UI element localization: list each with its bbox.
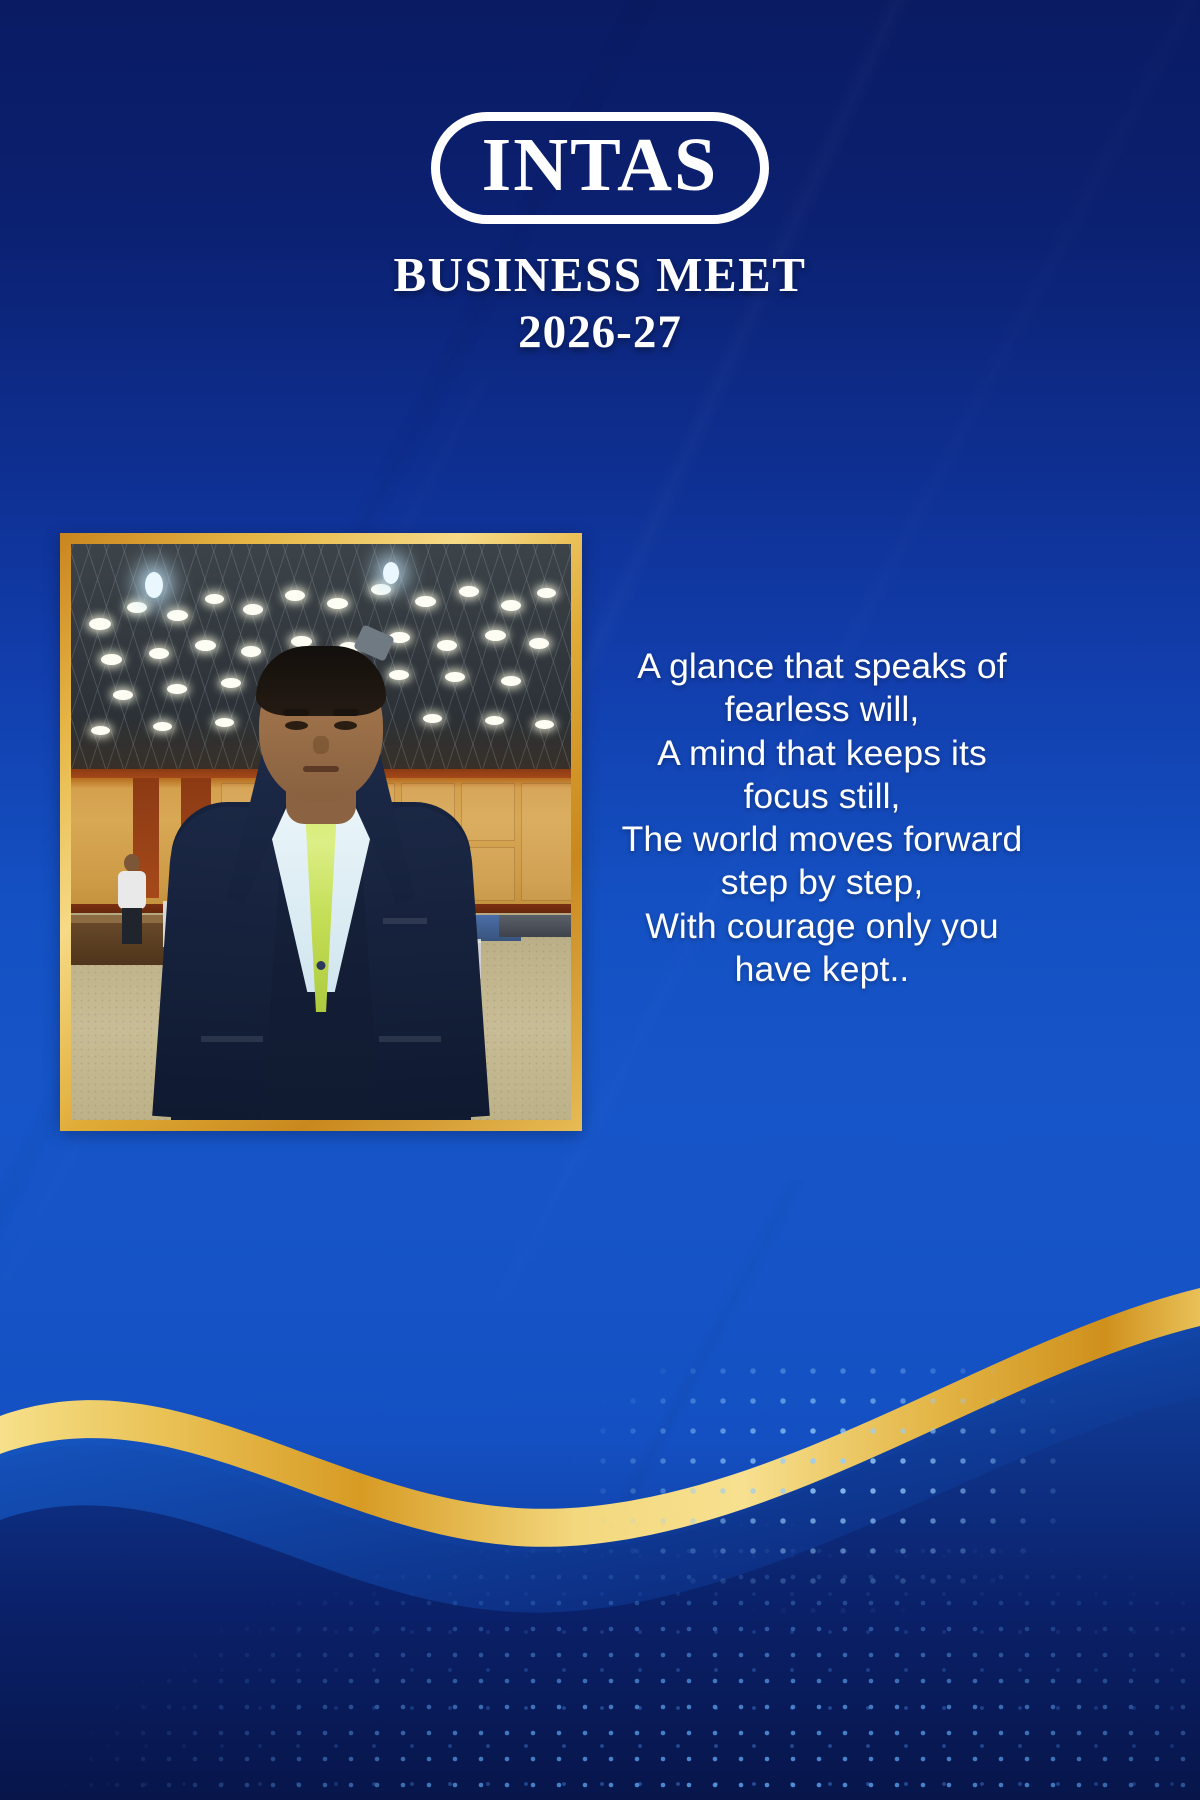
- ceiling-lamp: [127, 602, 147, 613]
- brand-name: INTAS: [482, 127, 719, 203]
- ceiling-lamp: [537, 588, 556, 598]
- mouth: [303, 766, 339, 772]
- attendee-portrait: [71, 544, 571, 1120]
- poem-line: A glance that speaks of: [592, 645, 1052, 688]
- intas-pill-logo-icon: INTAS: [431, 112, 770, 224]
- jacket-chest-pocket: [383, 918, 427, 924]
- attendee-photo-frame: [60, 533, 582, 1131]
- bottom-wave-decoration: [0, 1160, 1200, 1800]
- ceiling-lamp: [167, 610, 188, 621]
- brand-logo: INTAS: [0, 112, 1200, 224]
- wall-panel: [521, 783, 571, 901]
- nose: [313, 736, 329, 754]
- ceiling-lamp: [113, 690, 133, 700]
- jacket-pocket-right: [379, 1036, 441, 1042]
- eye-left: [285, 721, 308, 730]
- ceiling-lamp: [529, 638, 549, 649]
- ceiling-lamp: [89, 618, 111, 630]
- ceiling-lamp: [485, 716, 504, 725]
- event-year: 2026-27: [0, 305, 1200, 359]
- poster-header: INTAS BUSINESS MEET 2026-27: [0, 0, 1200, 359]
- ceiling-lamp-bright: [145, 572, 163, 598]
- poem-line: fearless will,: [592, 688, 1052, 731]
- ceiling-lamp: [205, 594, 224, 604]
- ceiling-lamp: [501, 676, 521, 686]
- ceiling-lamp: [437, 640, 457, 651]
- eye-right: [334, 721, 357, 730]
- ceiling-lamp: [149, 648, 169, 659]
- ceiling-lamp: [415, 596, 436, 607]
- poem-line: step by step,: [592, 861, 1052, 904]
- poem-line: have kept..: [592, 948, 1052, 991]
- poem-line: The world moves forward: [592, 818, 1052, 861]
- hair: [256, 646, 386, 716]
- ceiling-lamp-bright: [383, 562, 399, 584]
- ceiling-lamp: [221, 678, 241, 688]
- eyebrow-left: [283, 709, 309, 716]
- poem-text: A glance that speaks of fearless will, A…: [592, 645, 1052, 991]
- ceiling-lamp: [153, 722, 172, 731]
- ceiling-lamp: [241, 646, 261, 657]
- poster-canvas: INTAS BUSINESS MEET 2026-27: [0, 0, 1200, 1800]
- ceiling-lamp: [91, 726, 110, 735]
- ceiling-lamp: [243, 604, 263, 615]
- jacket-button: [317, 961, 326, 970]
- jacket-pocket-left: [201, 1036, 263, 1042]
- poem-line: With courage only you: [592, 905, 1052, 948]
- event-title: BUSINESS MEET: [0, 246, 1200, 303]
- ceiling-lamp: [195, 640, 216, 651]
- ceiling-lamp: [445, 672, 465, 682]
- poem-line: focus still,: [592, 775, 1052, 818]
- ceiling-lamp: [101, 654, 122, 665]
- eyebrow-right: [333, 709, 359, 716]
- ceiling-lamp: [371, 584, 391, 595]
- background-person: [115, 854, 149, 944]
- ceiling-lamp: [285, 590, 305, 601]
- ceiling-lamp: [535, 720, 554, 729]
- ceiling-lamp: [459, 586, 479, 597]
- exhibit-counter: [499, 915, 571, 937]
- portrait-subject: [171, 690, 471, 1120]
- ceiling-lamp: [501, 600, 521, 611]
- ceiling-lamp: [389, 670, 409, 680]
- ceiling-lamp: [485, 630, 506, 641]
- ceiling-lamp: [327, 598, 348, 609]
- poem-line: A mind that keeps its: [592, 732, 1052, 775]
